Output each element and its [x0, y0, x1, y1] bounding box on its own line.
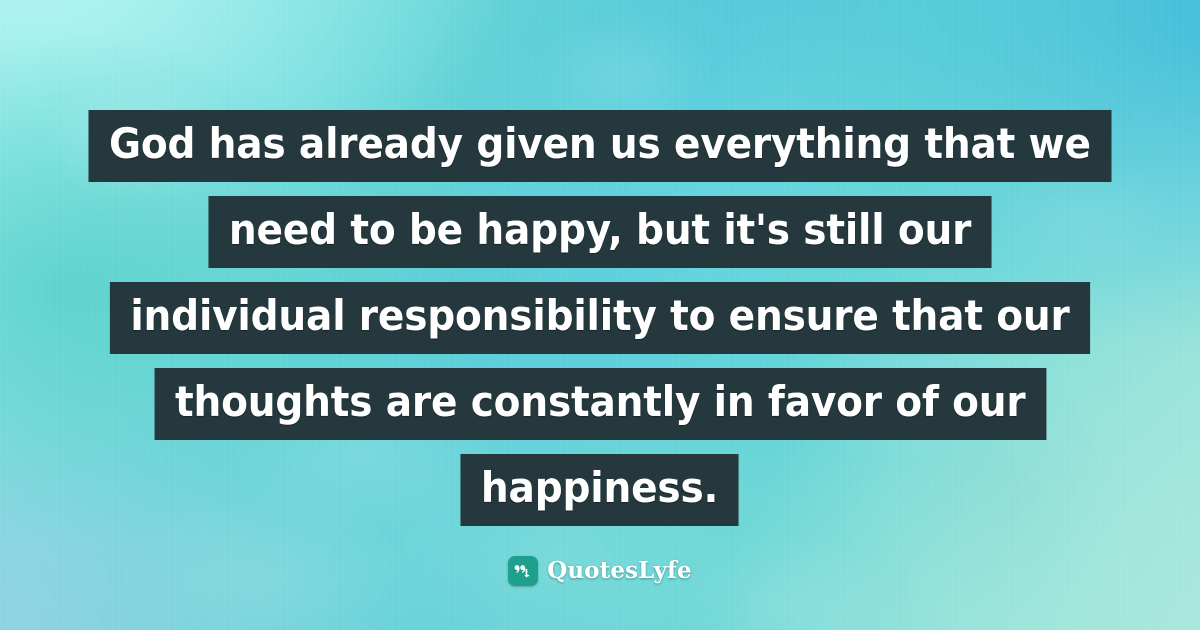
quote-card: God has already given us everything that…	[0, 0, 1200, 630]
quote-text-block: God has already given us everything that…	[0, 110, 1200, 540]
quote-line-1: God has already given us everything that…	[89, 110, 1112, 182]
quote-line-4: thoughts are constantly in favor of our	[154, 368, 1045, 440]
brand-watermark[interactable]: QuotesLyfe	[0, 556, 1200, 586]
brand-name: QuotesLyfe	[547, 556, 692, 586]
quote-line-5: happiness.	[461, 454, 739, 526]
quote-line-2: need to be happy, but it's still our	[208, 196, 991, 268]
quote-mark-icon	[508, 556, 538, 586]
quote-line-3: individual responsibility to ensure that…	[110, 282, 1090, 354]
